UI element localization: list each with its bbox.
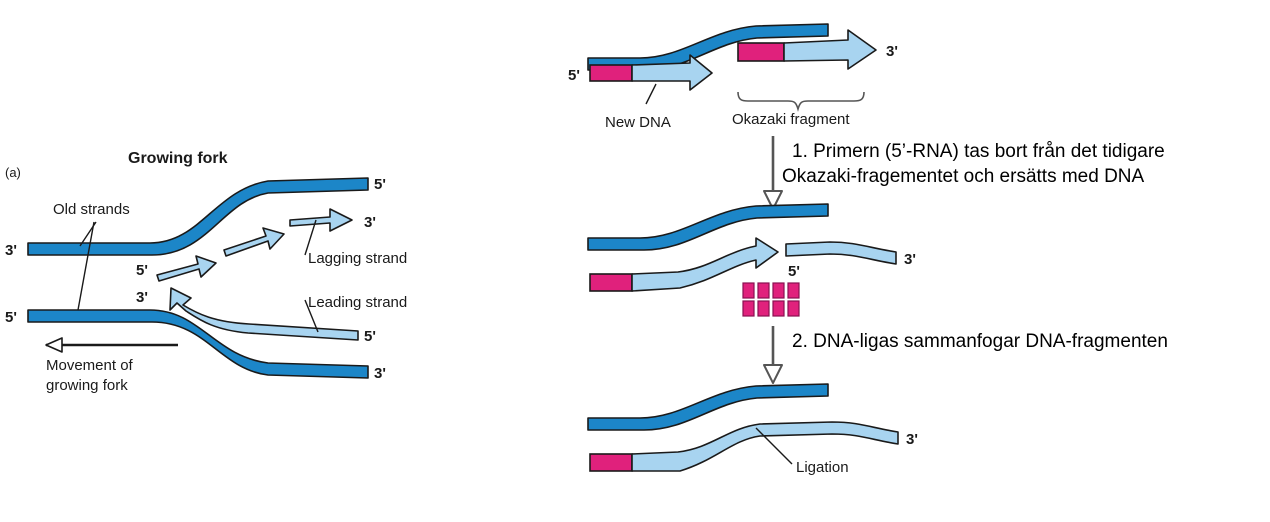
old-strands-leader-bottom [78,222,94,310]
nucleotide-square [758,283,769,298]
end-label-bottom-right: 3' [906,431,918,448]
left-panel-growing-fork: (a) Growing fork 3' 5' [0,0,470,522]
growing-fork-svg: (a) Growing fork 3' 5' [0,0,470,522]
lagging-arrow-1 [157,256,216,281]
primer-left-bottom [590,454,632,471]
page-title: Growing fork [128,150,228,167]
end-label-top-right: 3' [886,43,898,60]
annotation-step-2-line1: 2. DNA-ligas sammanfogar DNA-fragmenten [792,329,1168,354]
dna-replication-figure: (a) Growing fork 3' 5' [0,0,1270,522]
lagging-strand-label: Lagging strand [308,250,407,267]
leading-strand-label: Leading strand [308,294,407,311]
end-label-parent-top-right: 5' [374,176,386,193]
end-label-middle-five-prime: 5' [788,263,800,280]
nucleotide-square [743,301,754,316]
end-label-template-bottom-left: 5' [5,309,17,326]
end-label-middle-right: 3' [904,251,916,268]
step-arrow-2 [764,326,782,383]
end-label-lagging-start: 5' [136,262,148,279]
end-label-parent-bottom-right: 3' [374,365,386,382]
lagging-arrow-3 [290,209,352,231]
step-bottom-group: 3' Ligation [588,384,918,476]
step-top-group: 5' 3' New DNA Okazaki fragment [568,24,898,131]
primer-okazaki [738,43,784,61]
ligation-label: Ligation [796,459,849,476]
nucleotide-square [788,301,799,316]
new-dna-label: New DNA [605,114,671,131]
nucleotide-square [773,283,784,298]
right-panel-okazaki-steps: 5' 3' New DNA Okazaki fragment [560,0,1270,522]
movement-label-line2: growing fork [46,377,128,394]
movement-label-line1: Movement of [46,357,134,374]
growing-fork-movement-arrow [46,338,178,352]
end-label-leading-right: 5' [364,328,376,345]
end-label-leading-start: 3' [136,289,148,306]
step-arrow-1 [764,136,782,209]
nucleotide-square [743,283,754,298]
step-middle-group: 5' 3' [588,204,916,316]
end-label-lagging-arrow-right: 3' [364,214,376,231]
downstream-fragment-middle [786,242,896,264]
nucleotide-square [773,301,784,316]
nucleotide-square [788,283,799,298]
ligated-strand [632,422,898,471]
lagging-arrow-2 [224,228,284,256]
panel-label: (a) [5,165,21,180]
old-strands-label: Old strands [53,201,130,218]
primer-left-top [590,65,632,81]
end-label-top-left: 5' [568,67,580,84]
okazaki-brace [738,92,864,109]
new-dna-leader [646,84,656,104]
okazaki-steps-svg: 5' 3' New DNA Okazaki fragment [560,0,1270,522]
primer-left-middle [590,274,632,291]
end-label-template-top-left: 3' [5,242,17,259]
nucleotide-grid [743,283,799,316]
annotation-step-1-line2: Okazaki-fragementet och ersätts med DNA [782,164,1144,189]
okazaki-fragment-label: Okazaki fragment [732,111,850,128]
annotation-step-1-line1: 1. Primern (5’-RNA) tas bort från det ti… [792,139,1165,164]
nucleotide-square [758,301,769,316]
